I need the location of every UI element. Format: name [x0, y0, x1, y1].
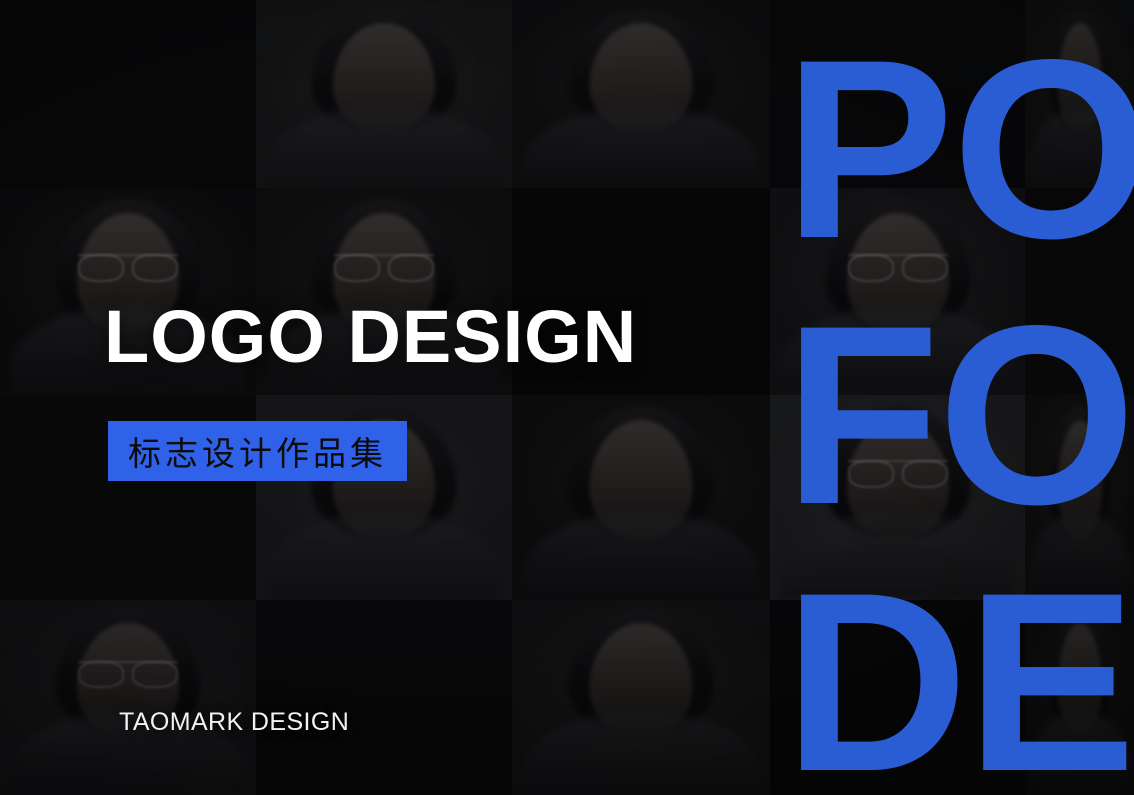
- portrait-photo: [0, 600, 256, 795]
- page-title: LOGO DESIGN: [104, 300, 637, 374]
- portrait-photo: [512, 600, 770, 795]
- glasses-detail: [78, 661, 178, 686]
- mosaic-tile: [512, 0, 770, 188]
- presentation-slide: PO FO DE LOGO DESIGN 标志设计作品集 TAOMARK DES…: [0, 0, 1134, 795]
- mosaic-tile: [1025, 600, 1134, 795]
- portrait-photo: [512, 0, 770, 188]
- mosaic-tile: [770, 600, 1025, 795]
- mosaic-tile: [770, 395, 1025, 600]
- portrait-photo: [770, 188, 1025, 395]
- mosaic-tile: [1025, 188, 1134, 395]
- subtitle-badge-label: 标志设计作品集: [128, 427, 387, 475]
- mosaic-tile: [0, 600, 256, 795]
- mosaic-tile: [512, 600, 770, 795]
- glasses-detail: [848, 254, 948, 280]
- footer-brand: TAOMARK DESIGN: [119, 708, 349, 737]
- glasses-detail: [78, 254, 178, 280]
- mosaic-tile: [0, 0, 256, 188]
- mosaic-tile: [256, 600, 512, 795]
- portrait-photo: [1025, 0, 1134, 188]
- mosaic-tile: [1025, 395, 1134, 600]
- portrait-photo: [1025, 600, 1134, 795]
- mosaic-tile: [770, 188, 1025, 395]
- portrait-photo: [512, 395, 770, 600]
- mosaic-tile: [256, 0, 512, 188]
- mosaic-tile: [512, 395, 770, 600]
- mosaic-tile: [770, 0, 1025, 188]
- glasses-detail: [334, 254, 434, 280]
- portrait-photo: [770, 395, 1025, 600]
- portrait-photo: [1025, 395, 1134, 600]
- mosaic-tile: [1025, 0, 1134, 188]
- subtitle-badge: 标志设计作品集: [108, 421, 407, 481]
- glasses-detail: [848, 460, 948, 486]
- portrait-photo-mosaic: [0, 0, 1134, 795]
- portrait-photo: [256, 0, 512, 188]
